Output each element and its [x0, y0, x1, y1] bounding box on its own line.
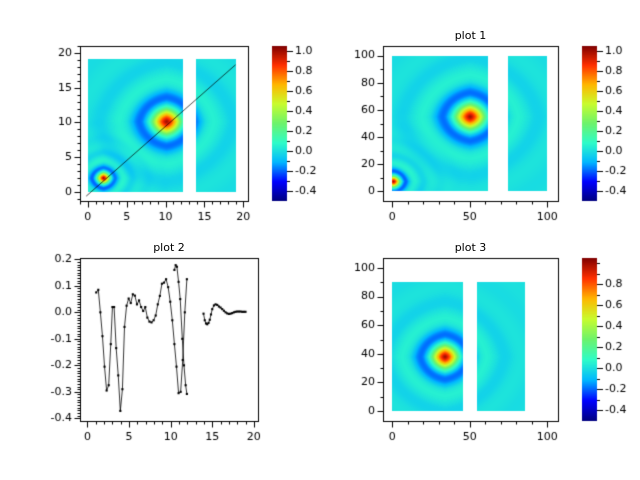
panel-title-bottom-right: plot 3 [383, 242, 558, 254]
panel-title-bottom-left: plot 2 [80, 242, 258, 254]
panel-title-top-right: plot 1 [383, 30, 558, 42]
scientific-figure-canvas [0, 0, 640, 480]
figure-canvas-container: plot 1 plot 2 plot 3 [0, 0, 640, 480]
